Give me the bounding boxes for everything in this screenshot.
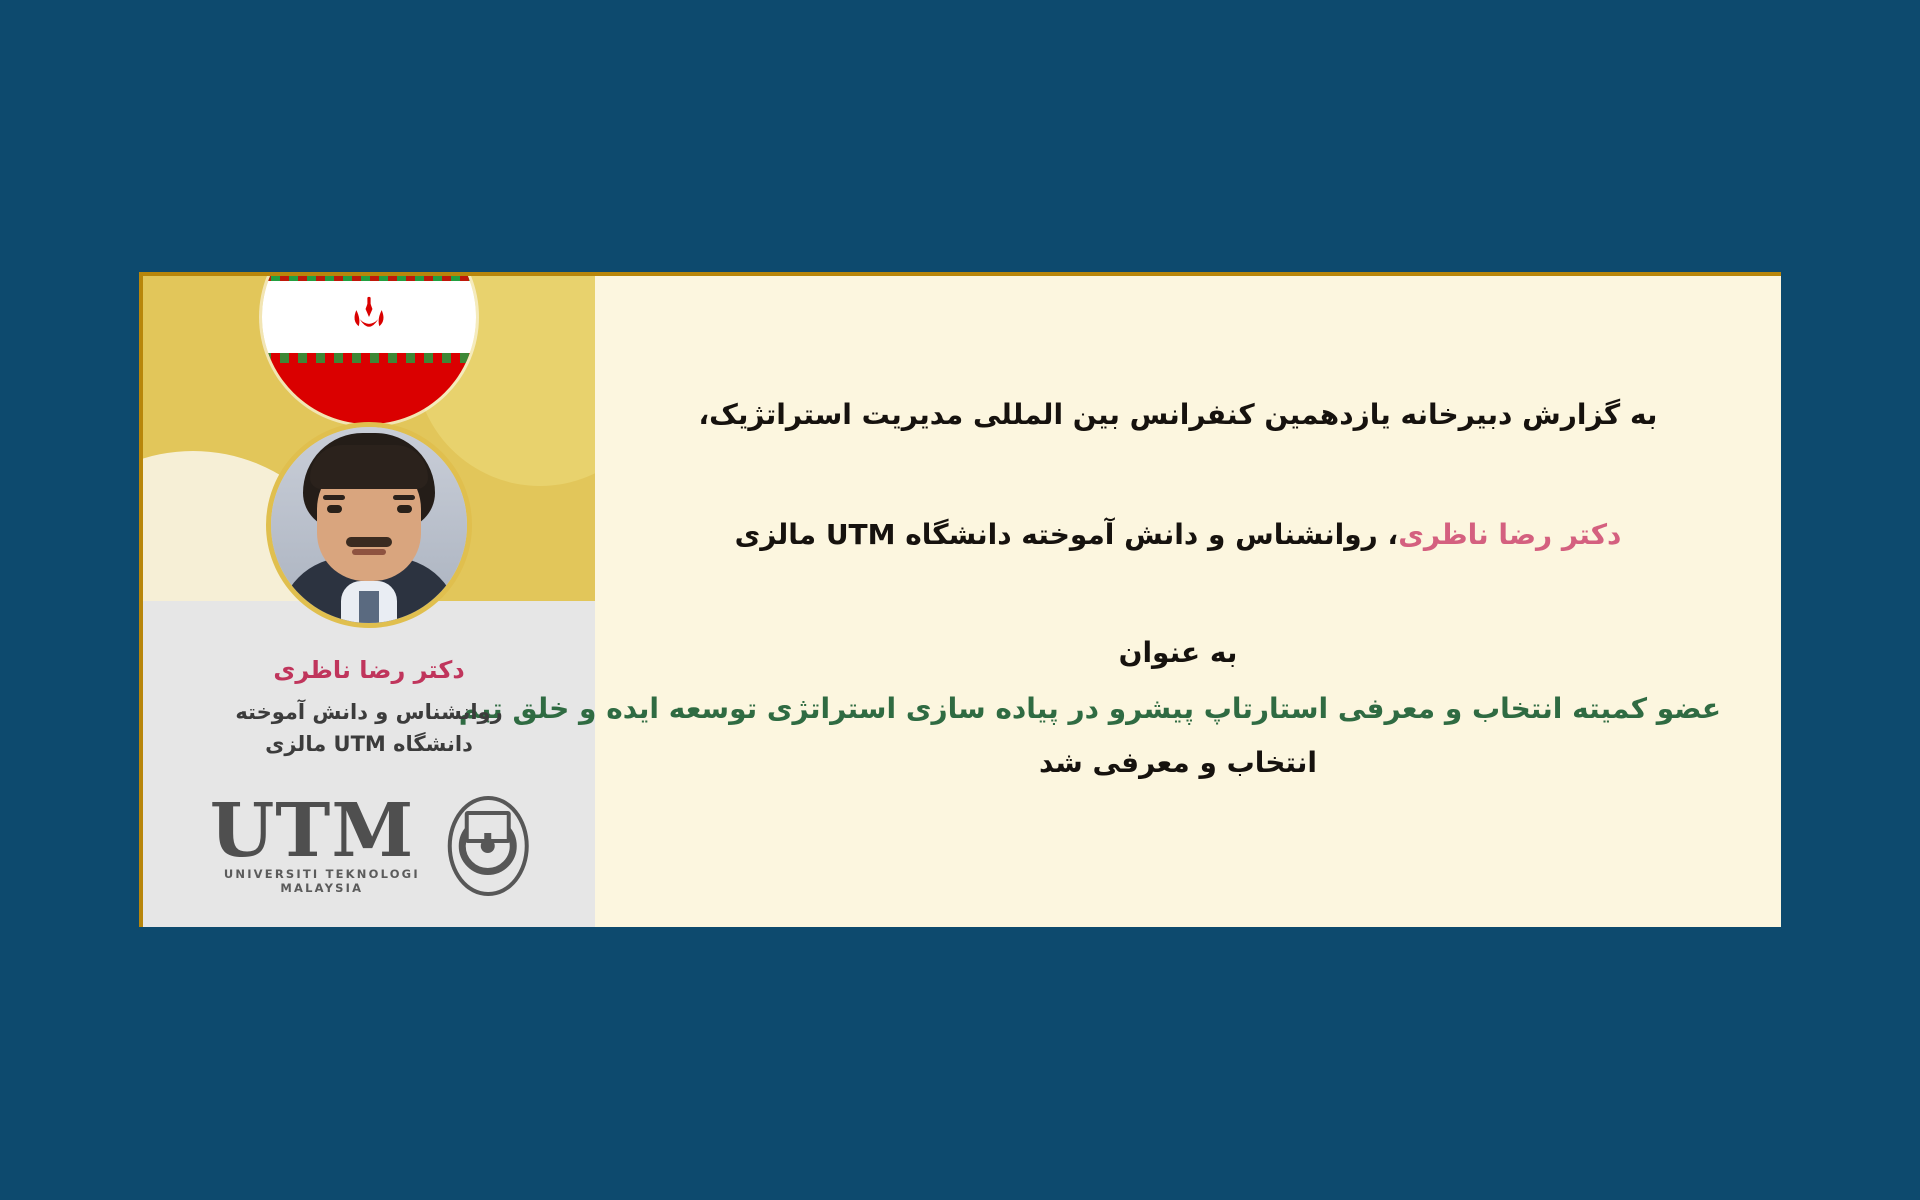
article-closing-line: انتخاب و معرفی شد	[635, 742, 1721, 784]
utm-emblem-bar	[465, 811, 511, 843]
avatar-moustache	[346, 537, 392, 547]
poster-speaker-subtitle-1: روانشناس و دانش آموخته	[143, 700, 595, 724]
flag-kufic-band-top	[262, 276, 476, 281]
avatar-eye-left	[327, 505, 342, 513]
iran-flag-icon	[262, 276, 476, 424]
article-body: به گزارش دبیرخانه یازدهمین کنفرانس بین ا…	[595, 276, 1781, 927]
article-inner: به گزارش دبیرخانه یازدهمین کنفرانس بین ا…	[595, 276, 1781, 927]
avatar-fringe	[310, 445, 428, 489]
article-person-rest: ، روانشناس و دانش آموخته دانشگاه UTM مال…	[735, 518, 1399, 551]
avatar-eye-right	[397, 505, 412, 513]
article-person-name: دکتر رضا ناظری	[1398, 518, 1621, 551]
utm-logo: UTM UNIVERSITI TEKNOLOGI MALAYSIA	[210, 796, 529, 896]
speaker-avatar	[266, 422, 472, 628]
flag-emblem-icon	[346, 294, 392, 340]
speaker-poster: www.ismconf.com دکتر رضا ناظری ر	[143, 276, 595, 927]
avatar-brow-right	[393, 495, 415, 500]
poster-speaker-subtitle-2: دانشگاه UTM مالزی	[143, 732, 595, 756]
article-lead-line: به گزارش دبیرخانه یازدهمین کنفرانس بین ا…	[635, 394, 1721, 436]
utm-logo-text: UTM UNIVERSITI TEKNOLOGI MALAYSIA	[210, 797, 434, 895]
poster-speaker-name: دکتر رضا ناظری	[143, 656, 595, 684]
avatar-brow-left	[323, 495, 345, 500]
flag-stripe-red	[262, 353, 476, 424]
flag-kufic-band-bottom	[262, 353, 476, 363]
article-person-line: دکتر رضا ناظری، روانشناس و دانش آموخته د…	[635, 514, 1721, 556]
article-as-title-label: به عنوان	[635, 632, 1721, 674]
avatar-tie	[359, 591, 379, 628]
utm-tagline: UNIVERSITI TEKNOLOGI MALAYSIA	[210, 867, 434, 895]
utm-wordmark: UTM	[210, 797, 434, 865]
utm-emblem-icon	[448, 796, 528, 896]
announcement-card: www.ismconf.com دکتر رضا ناظری ر	[139, 272, 1781, 927]
utm-emblem-stem	[485, 833, 492, 849]
avatar-mouth	[352, 549, 386, 555]
article-role-line: عضو کمیته انتخاب و معرفی استارتاپ پیشرو …	[635, 688, 1721, 730]
page-root: www.ismconf.com دکتر رضا ناظری ر	[0, 0, 1920, 1200]
